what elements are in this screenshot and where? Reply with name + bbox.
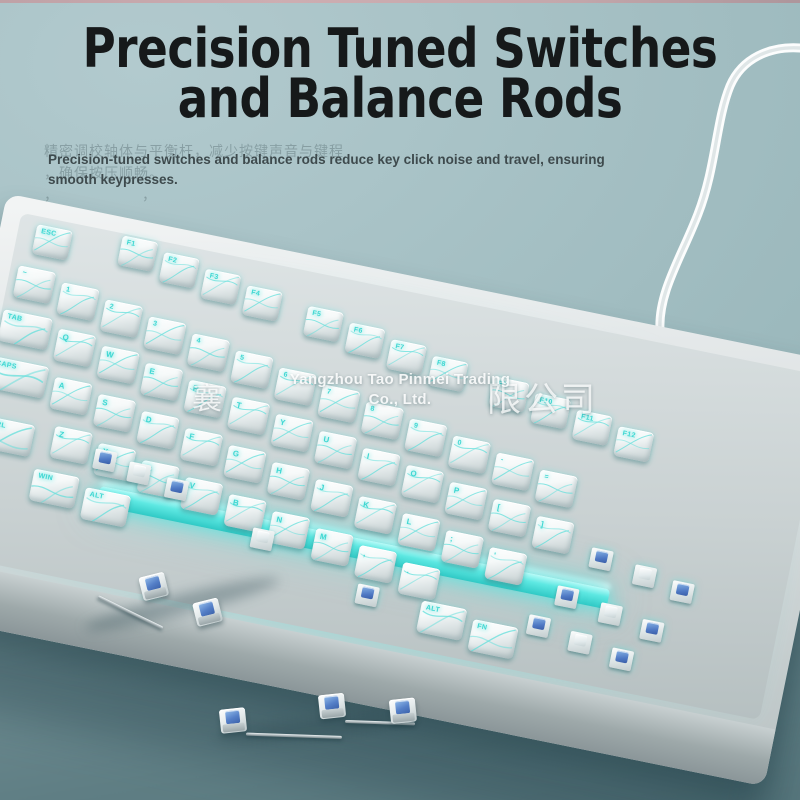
stabilizer-housing [219, 707, 247, 734]
subtitle: Precision-tuned switches and balance rod… [48, 150, 648, 190]
stabilizer-housing [389, 697, 417, 724]
top-edge-strip [0, 0, 800, 3]
exposed-switch-white[interactable] [249, 527, 275, 551]
exposed-switch-blue[interactable] [164, 477, 190, 501]
headline-line-2: and Balance Rods [28, 74, 772, 124]
exposed-switch-blue[interactable] [526, 614, 552, 638]
watermark-line-2: Co., Ltd. [0, 390, 800, 410]
product-image: ESCF1F2F3F4F5F6F7F8F9F10F11F12~123456789… [0, 0, 800, 800]
exposed-switch-blue[interactable] [639, 619, 665, 643]
exposed-switch-white[interactable] [598, 602, 624, 626]
exposed-switch-white[interactable] [632, 564, 658, 588]
exposed-switch-blue[interactable] [609, 647, 635, 671]
exposed-switch-white[interactable] [567, 631, 593, 655]
exposed-switch-blue[interactable] [354, 583, 380, 607]
headline: Precision Tuned Switches and Balance Rod… [28, 24, 772, 124]
exposed-switch-blue[interactable] [92, 448, 118, 472]
watermark-line-1: Yangzhou Tao Pinmei Trading [0, 370, 800, 390]
exposed-switch-blue[interactable] [588, 547, 614, 571]
exposed-switch-white[interactable] [126, 461, 152, 485]
stabilizer-housing [318, 693, 346, 720]
exposed-switch-blue[interactable] [554, 585, 580, 609]
exposed-switch-blue[interactable] [669, 580, 695, 604]
watermark: Yangzhou Tao Pinmei Trading Co., Ltd. [0, 370, 800, 410]
